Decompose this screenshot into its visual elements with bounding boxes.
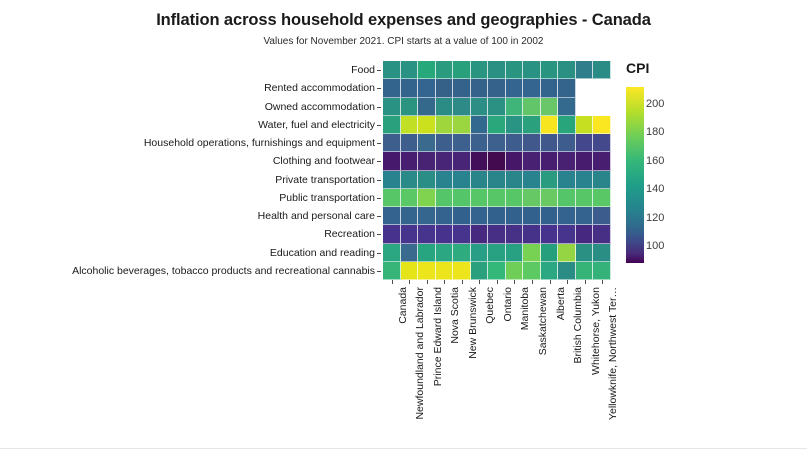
page-title: Inflation across household expenses and …	[0, 11, 807, 30]
heatmap-cell[interactable]	[418, 207, 436, 225]
chart-subtitle: Values for November 2021. CPI starts at …	[0, 36, 807, 47]
heatmap-cell[interactable]	[506, 207, 524, 225]
y-axis-tick	[377, 152, 381, 170]
heatmap-cell[interactable]	[541, 152, 559, 170]
y-axis-tick	[377, 262, 381, 280]
y-axis-tick	[377, 171, 381, 189]
heatmap-cell[interactable]	[488, 207, 506, 225]
heatmap-cell[interactable]	[506, 262, 524, 280]
heatmap-cell[interactable]	[576, 61, 594, 79]
heatmap-cell[interactable]	[576, 98, 594, 116]
heatmap-cell[interactable]	[383, 244, 401, 262]
y-axis-labels: FoodRented accommodationOwned accommodat…	[0, 61, 377, 280]
y-axis-tick	[377, 189, 381, 207]
heatmap-cell[interactable]	[401, 98, 419, 116]
colorbar-gradient	[626, 87, 644, 263]
y-axis-label: Public transportation	[0, 189, 377, 207]
heatmap-cell[interactable]	[593, 244, 611, 262]
heatmap-grid	[383, 61, 611, 280]
heatmap-cell[interactable]	[453, 189, 471, 207]
x-axis-label-slot: Ontario	[488, 285, 506, 445]
colorbar-tick-label: 180	[646, 126, 664, 138]
heatmap-cell[interactable]	[471, 189, 489, 207]
heatmap-cell[interactable]	[418, 152, 436, 170]
y-axis-label: Household operations, furnishings and eq…	[0, 134, 377, 152]
heatmap-cell[interactable]	[523, 225, 541, 243]
heatmap-cell[interactable]	[453, 171, 471, 189]
y-axis-label: Alcoholic beverages, tobacco products an…	[0, 262, 377, 280]
heatmap-cell[interactable]	[383, 225, 401, 243]
heatmap-cell[interactable]	[488, 225, 506, 243]
heatmap-cell[interactable]	[383, 61, 401, 79]
heatmap-cell[interactable]	[558, 207, 576, 225]
y-axis-label: Water, fuel and electricity	[0, 116, 377, 134]
x-axis-tick	[523, 280, 541, 284]
heatmap-cell[interactable]	[453, 262, 471, 280]
heatmap-cell[interactable]	[506, 225, 524, 243]
heatmap-cell[interactable]	[541, 189, 559, 207]
heatmap-cell[interactable]	[593, 116, 611, 134]
x-axis-tick	[558, 280, 576, 284]
heatmap-cell[interactable]	[383, 171, 401, 189]
heatmap-cell[interactable]	[436, 79, 454, 97]
heatmap-cell[interactable]	[558, 61, 576, 79]
heatmap-cell[interactable]	[506, 61, 524, 79]
heatmap-cell[interactable]	[488, 262, 506, 280]
heatmap-cell[interactable]	[471, 207, 489, 225]
heatmap-cell[interactable]	[541, 207, 559, 225]
heatmap-cell[interactable]	[576, 225, 594, 243]
y-axis-label: Private transportation	[0, 171, 377, 189]
heatmap-cell[interactable]	[471, 171, 489, 189]
y-axis-ticks	[377, 61, 381, 280]
heatmap-cell[interactable]	[506, 116, 524, 134]
heatmap-cell[interactable]	[401, 225, 419, 243]
heatmap-cell[interactable]	[401, 134, 419, 152]
heatmap-cell[interactable]	[383, 116, 401, 134]
heatmap-cell[interactable]	[576, 116, 594, 134]
heatmap-cell[interactable]	[523, 244, 541, 262]
heatmap-cell[interactable]	[523, 61, 541, 79]
heatmap-cell[interactable]	[436, 225, 454, 243]
footer-divider	[0, 448, 807, 449]
heatmap-cell[interactable]	[558, 79, 576, 97]
heatmap-cell[interactable]	[523, 98, 541, 116]
heatmap-cell[interactable]	[541, 79, 559, 97]
heatmap-cell[interactable]	[506, 79, 524, 97]
heatmap-cell[interactable]	[453, 244, 471, 262]
y-axis-label: Education and reading	[0, 244, 377, 262]
heatmap-cell[interactable]	[418, 189, 436, 207]
heatmap-cell[interactable]	[488, 134, 506, 152]
heatmap-cell[interactable]	[523, 189, 541, 207]
heatmap-cell[interactable]	[593, 79, 611, 97]
heatmap-cell[interactable]	[418, 134, 436, 152]
heatmap-cell[interactable]	[383, 262, 401, 280]
x-axis-label-slot: Prince Edward Island	[418, 285, 436, 445]
heatmap-cell[interactable]	[488, 152, 506, 170]
x-axis-tick	[383, 280, 401, 284]
heatmap-cell[interactable]	[593, 61, 611, 79]
heatmap-cell[interactable]	[541, 262, 559, 280]
heatmap-cell[interactable]	[593, 171, 611, 189]
heatmap-plot-area	[383, 61, 611, 280]
chart-root: Inflation across household expenses and …	[0, 0, 807, 453]
heatmap-cell[interactable]	[401, 79, 419, 97]
colorbar-ticks: 200180160140120100	[644, 87, 684, 263]
y-axis-tick	[377, 207, 381, 225]
colorbar-tick-label: 140	[646, 183, 664, 195]
heatmap-cell[interactable]	[593, 262, 611, 280]
heatmap-cell[interactable]	[436, 207, 454, 225]
heatmap-cell[interactable]	[418, 98, 436, 116]
heatmap-cell[interactable]	[558, 116, 576, 134]
heatmap-cell[interactable]	[593, 225, 611, 243]
x-axis-label-slot: Nova Scotia	[436, 285, 454, 445]
heatmap-cell[interactable]	[558, 244, 576, 262]
heatmap-cell[interactable]	[401, 244, 419, 262]
heatmap-cell[interactable]	[541, 98, 559, 116]
colorbar-tick-label: 160	[646, 155, 664, 167]
heatmap-cell[interactable]	[506, 98, 524, 116]
heatmap-cell[interactable]	[383, 152, 401, 170]
x-axis-tick	[576, 280, 594, 284]
heatmap-cell[interactable]	[541, 61, 559, 79]
heatmap-cell[interactable]	[523, 152, 541, 170]
x-axis-tick	[418, 280, 436, 284]
heatmap-cell[interactable]	[436, 189, 454, 207]
heatmap-cell[interactable]	[436, 134, 454, 152]
x-axis-tick	[471, 280, 489, 284]
heatmap-cell[interactable]	[558, 189, 576, 207]
x-axis-label-slot: British Columbia	[558, 285, 576, 445]
heatmap-cell[interactable]	[471, 262, 489, 280]
heatmap-cell[interactable]	[436, 61, 454, 79]
heatmap-cell[interactable]	[471, 98, 489, 116]
heatmap-cell[interactable]	[593, 98, 611, 116]
x-axis-label-slot: Saskatchewan	[523, 285, 541, 445]
y-axis-label: Recreation	[0, 225, 377, 243]
heatmap-cell[interactable]	[418, 262, 436, 280]
heatmap-cell[interactable]	[506, 189, 524, 207]
heatmap-cell[interactable]	[436, 152, 454, 170]
heatmap-cell[interactable]	[593, 207, 611, 225]
heatmap-cell[interactable]	[523, 262, 541, 280]
heatmap-cell[interactable]	[558, 98, 576, 116]
heatmap-cell[interactable]	[523, 134, 541, 152]
heatmap-cell[interactable]	[418, 225, 436, 243]
heatmap-cell[interactable]	[558, 262, 576, 280]
heatmap-cell[interactable]	[488, 189, 506, 207]
heatmap-cell[interactable]	[576, 79, 594, 97]
legend-title: CPI	[626, 60, 649, 76]
heatmap-cell[interactable]	[401, 207, 419, 225]
x-axis-tick	[436, 280, 454, 284]
heatmap-cell[interactable]	[436, 244, 454, 262]
heatmap-cell[interactable]	[418, 116, 436, 134]
y-axis-label: Clothing and footwear	[0, 152, 377, 170]
x-axis-label-slot: Yellowknife, Northwest Ter…	[593, 285, 611, 445]
heatmap-cell[interactable]	[453, 225, 471, 243]
heatmap-cell[interactable]	[488, 98, 506, 116]
heatmap-cell[interactable]	[488, 79, 506, 97]
heatmap-cell[interactable]	[593, 189, 611, 207]
heatmap-cell[interactable]	[471, 116, 489, 134]
heatmap-cell[interactable]	[436, 116, 454, 134]
y-axis-tick	[377, 98, 381, 116]
heatmap-cell[interactable]	[541, 171, 559, 189]
heatmap-cell[interactable]	[576, 189, 594, 207]
x-axis-tick	[488, 280, 506, 284]
heatmap-cell[interactable]	[401, 116, 419, 134]
heatmap-cell[interactable]	[418, 171, 436, 189]
heatmap-cell[interactable]	[558, 171, 576, 189]
heatmap-cell[interactable]	[558, 225, 576, 243]
heatmap-cell[interactable]	[471, 134, 489, 152]
heatmap-cell[interactable]	[541, 225, 559, 243]
heatmap-cell[interactable]	[541, 244, 559, 262]
x-axis-tick	[401, 280, 419, 284]
heatmap-cell[interactable]	[558, 152, 576, 170]
x-axis-label: Yellowknife, Northwest Ter…	[607, 287, 619, 447]
x-axis-label-slot: Alberta	[541, 285, 559, 445]
x-axis-label-slot: Canada	[383, 285, 401, 445]
heatmap-cell[interactable]	[488, 244, 506, 262]
heatmap-cell[interactable]	[576, 207, 594, 225]
heatmap-cell[interactable]	[471, 244, 489, 262]
y-axis-label: Food	[0, 61, 377, 79]
x-axis-label-slot: Newfoundland and Labrador	[401, 285, 419, 445]
heatmap-cell[interactable]	[576, 152, 594, 170]
heatmap-cell[interactable]	[471, 61, 489, 79]
heatmap-cell[interactable]	[453, 207, 471, 225]
heatmap-cell[interactable]	[523, 79, 541, 97]
heatmap-cell[interactable]	[471, 79, 489, 97]
heatmap-cell[interactable]	[418, 244, 436, 262]
y-axis-tick	[377, 225, 381, 243]
heatmap-cell[interactable]	[523, 116, 541, 134]
heatmap-cell[interactable]	[453, 152, 471, 170]
heatmap-cell[interactable]	[471, 225, 489, 243]
heatmap-cell[interactable]	[401, 171, 419, 189]
y-axis-tick	[377, 79, 381, 97]
x-axis-ticks	[383, 280, 611, 284]
heatmap-cell[interactable]	[383, 189, 401, 207]
heatmap-cell[interactable]	[523, 207, 541, 225]
heatmap-cell[interactable]	[418, 61, 436, 79]
heatmap-cell[interactable]	[506, 244, 524, 262]
y-axis-tick	[377, 134, 381, 152]
colorbar-tick-label: 100	[646, 240, 664, 252]
heatmap-cell[interactable]	[453, 116, 471, 134]
heatmap-cell[interactable]	[401, 189, 419, 207]
y-axis-tick	[377, 244, 381, 262]
heatmap-cell[interactable]	[453, 134, 471, 152]
heatmap-cell[interactable]	[488, 171, 506, 189]
x-axis-label-slot: New Brunswick	[453, 285, 471, 445]
heatmap-cell[interactable]	[436, 98, 454, 116]
heatmap-cell[interactable]	[506, 134, 524, 152]
colorbar-tick-label: 200	[646, 98, 664, 110]
x-axis-tick	[593, 280, 611, 284]
y-axis-label: Health and personal care	[0, 207, 377, 225]
y-axis-tick	[377, 116, 381, 134]
heatmap-cell[interactable]	[523, 171, 541, 189]
heatmap-cell[interactable]	[576, 134, 594, 152]
heatmap-cell[interactable]	[453, 61, 471, 79]
heatmap-cell[interactable]	[401, 262, 419, 280]
heatmap-cell[interactable]	[488, 116, 506, 134]
heatmap-cell[interactable]	[383, 207, 401, 225]
heatmap-cell[interactable]	[471, 152, 489, 170]
x-axis-tick	[506, 280, 524, 284]
x-axis-tick	[453, 280, 471, 284]
heatmap-cell[interactable]	[576, 171, 594, 189]
heatmap-cell[interactable]	[436, 262, 454, 280]
y-axis-tick	[377, 61, 381, 79]
x-axis-labels: CanadaNewfoundland and LabradorPrince Ed…	[383, 285, 611, 445]
heatmap-cell[interactable]	[383, 134, 401, 152]
heatmap-cell[interactable]	[418, 79, 436, 97]
heatmap-cell[interactable]	[453, 79, 471, 97]
heatmap-cell[interactable]	[453, 98, 471, 116]
heatmap-cell[interactable]	[401, 61, 419, 79]
x-axis-label-slot: Whitehorse, Yukon	[576, 285, 594, 445]
heatmap-cell[interactable]	[383, 98, 401, 116]
heatmap-cell[interactable]	[576, 262, 594, 280]
y-axis-label: Owned accommodation	[0, 98, 377, 116]
heatmap-cell[interactable]	[506, 171, 524, 189]
heatmap-cell[interactable]	[558, 134, 576, 152]
heatmap-cell[interactable]	[593, 134, 611, 152]
heatmap-cell[interactable]	[593, 152, 611, 170]
heatmap-cell[interactable]	[436, 171, 454, 189]
x-axis-tick	[541, 280, 559, 284]
heatmap-cell[interactable]	[541, 134, 559, 152]
y-axis-label: Rented accommodation	[0, 79, 377, 97]
x-axis-label-slot: Manitoba	[506, 285, 524, 445]
heatmap-cell[interactable]	[401, 152, 419, 170]
heatmap-cell[interactable]	[506, 152, 524, 170]
heatmap-cell[interactable]	[541, 116, 559, 134]
heatmap-cell[interactable]	[383, 79, 401, 97]
heatmap-cell[interactable]	[576, 244, 594, 262]
colorbar-tick-label: 120	[646, 212, 664, 224]
x-axis-label-slot: Quebec	[471, 285, 489, 445]
heatmap-cell[interactable]	[488, 61, 506, 79]
